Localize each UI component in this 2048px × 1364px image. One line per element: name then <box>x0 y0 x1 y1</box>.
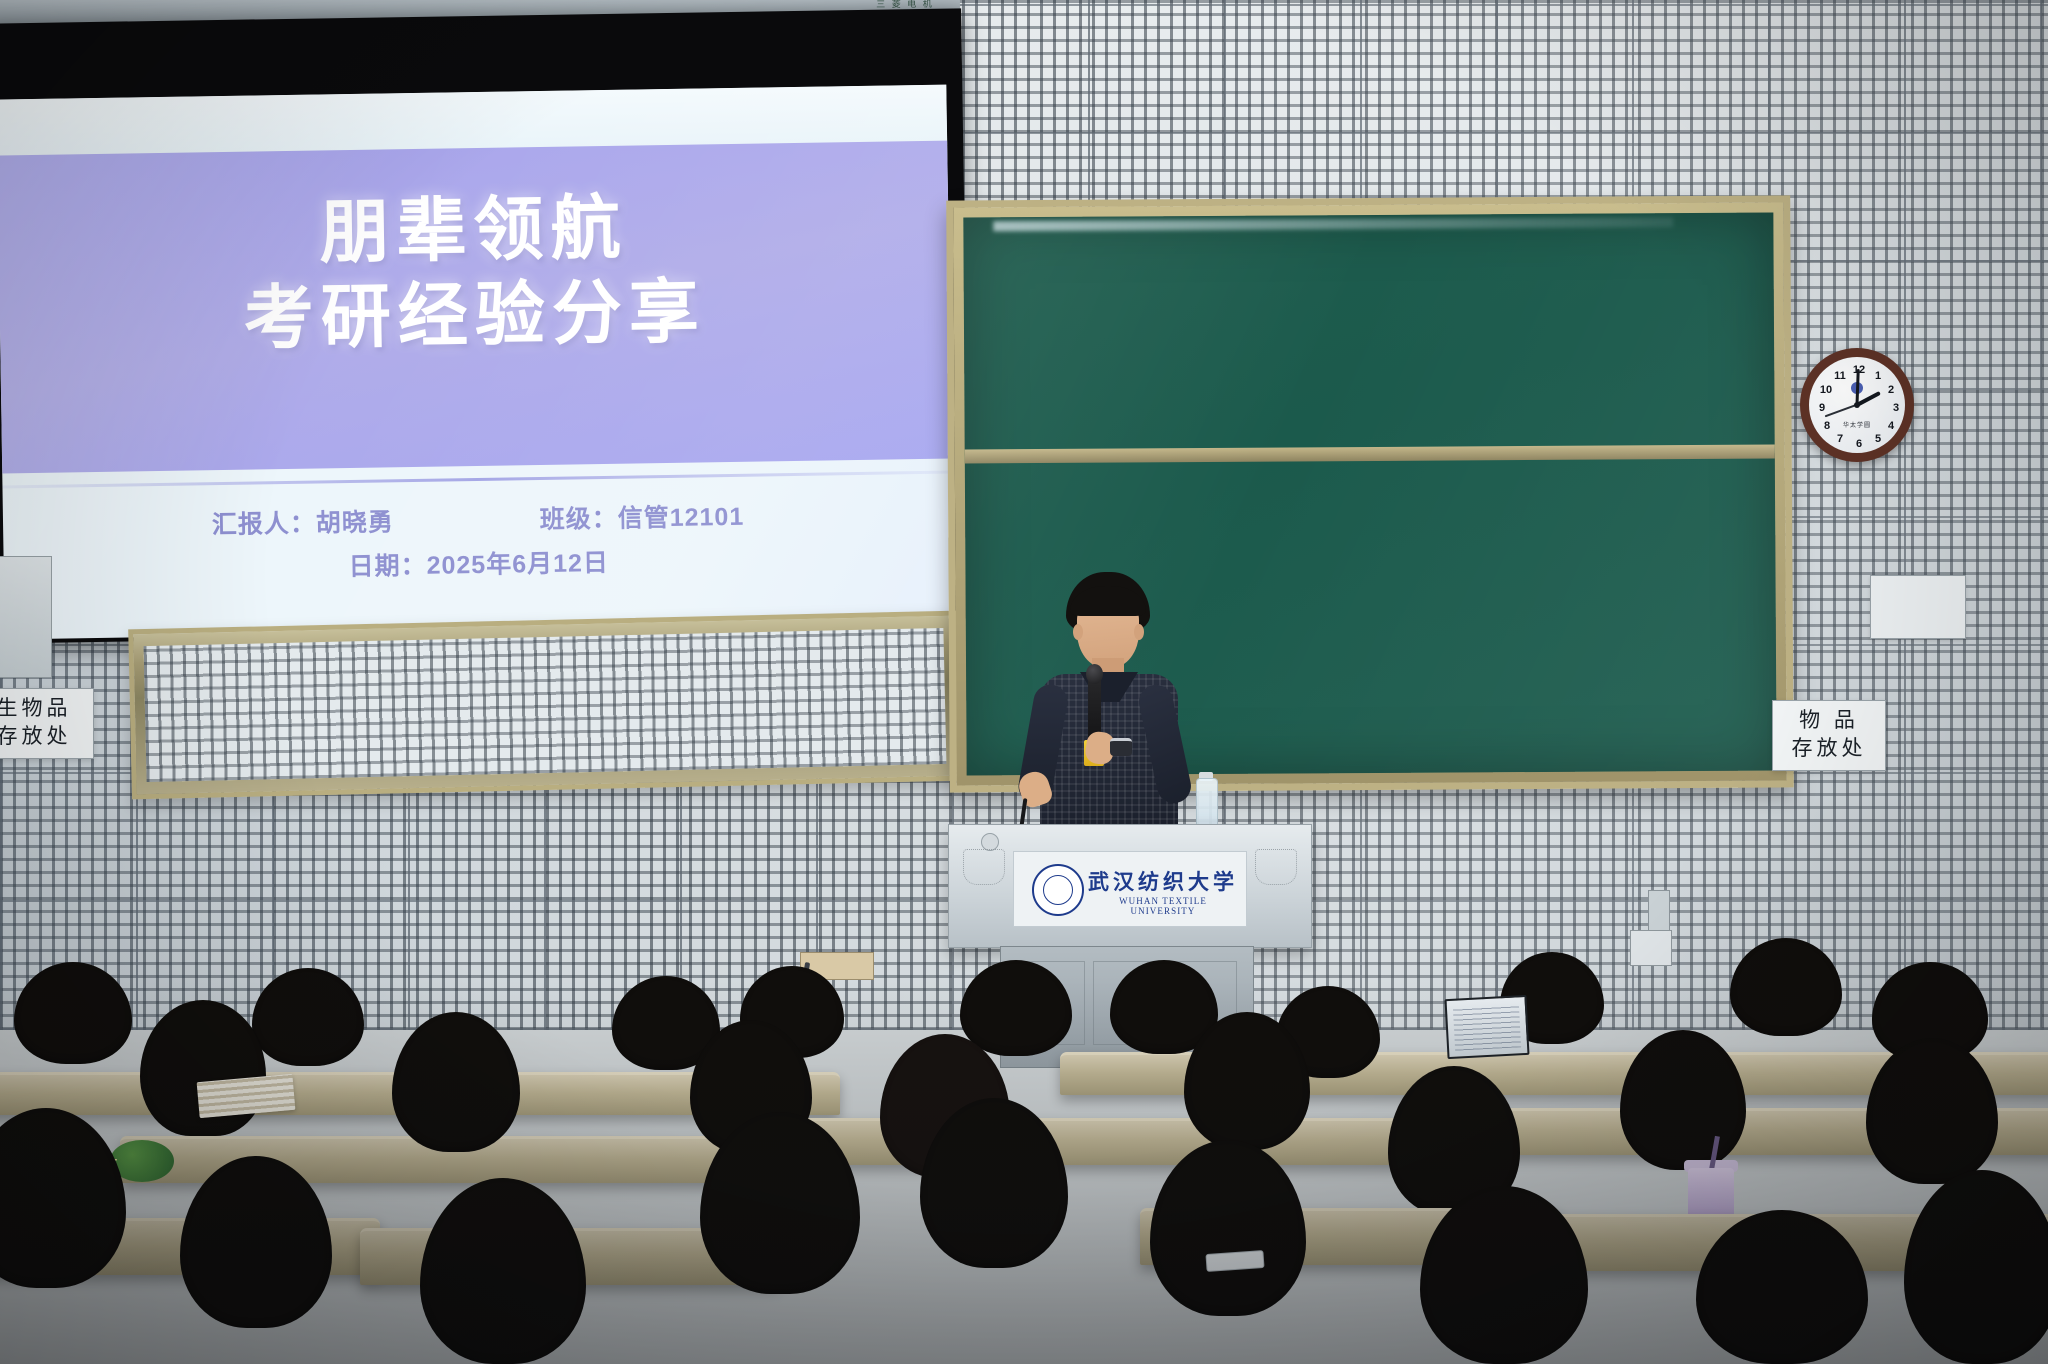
slide-meta: 汇报人：胡晓勇 班级：信管12101 日期：2025年6月12日 <box>3 493 954 595</box>
clock-numeral: 3 <box>1889 402 1903 414</box>
lectern-podium: 武汉纺织大学 WUHAN TEXTILE UNIVERSITY <box>948 824 1312 948</box>
clock-brand-text: 华太学圆 <box>1843 420 1871 429</box>
slide-presenter: 汇报人：胡晓勇 <box>212 508 394 539</box>
sign-left-line-2: 存放处 <box>0 723 89 751</box>
microphone-head-icon <box>1086 664 1103 684</box>
audience-head <box>0 1108 126 1288</box>
clock-numeral: 9 <box>1815 402 1829 414</box>
clock-numeral: 4 <box>1884 420 1898 432</box>
slide-divider <box>2 471 952 489</box>
university-name-en: WUHAN TEXTILE UNIVERSITY <box>1088 896 1238 916</box>
sign-right-line-2: 存放处 <box>1777 735 1881 763</box>
clock-numeral: 8 <box>1820 420 1834 432</box>
podium-emblem-left-icon <box>963 849 1005 885</box>
ledge-acoustic-panel <box>144 628 947 782</box>
wall-clock: 12 1 2 3 4 5 6 7 8 9 10 11 华太学圆 <box>1800 348 1914 462</box>
projection-screen-frame: 朋辈领航 考研经验分享 汇报人：胡晓勇 班级：信管12101 日期：2025年6… <box>0 8 971 643</box>
clock-numeral: 6 <box>1852 438 1866 450</box>
university-seal-icon <box>1032 864 1084 916</box>
speaker-ear-left <box>1073 624 1083 640</box>
podium-emblem-right-icon <box>1255 849 1297 885</box>
slide-title-line-1: 朋辈领航 <box>0 181 949 281</box>
audience-head <box>1620 1030 1746 1170</box>
wall-poster-left <box>0 556 52 678</box>
clock-numeral: 11 <box>1833 370 1847 382</box>
wall-blank-plate <box>1870 575 1966 639</box>
speaker-wristwatch <box>1110 738 1132 756</box>
speaker-ear-right <box>1134 624 1144 640</box>
clock-face: 12 1 2 3 4 5 6 7 8 9 10 11 华太学圆 <box>1809 357 1905 453</box>
slide-class: 班级：信管12101 <box>540 503 745 534</box>
clock-minute-hand <box>1856 369 1860 405</box>
sign-left-line-1: 生物品 <box>0 695 89 723</box>
projection-screen: 朋辈领航 考研经验分享 汇报人：胡晓勇 班级：信管12101 日期：2025年6… <box>0 85 955 640</box>
clock-center-pin <box>1854 402 1860 408</box>
podium-nameplate: 武汉纺织大学 WUHAN TEXTILE UNIVERSITY <box>1013 851 1247 927</box>
slide-title-line-2: 考研经验分享 <box>0 266 950 366</box>
slide-title: 朋辈领航 考研经验分享 <box>0 181 950 367</box>
lecture-hall-scene: 三 菱 电 机 朋辈领航 考研经验分享 汇报人：胡晓勇 班级：信管12101 日… <box>0 0 2048 1364</box>
wall-outlet-right <box>1630 930 1672 966</box>
speaker-presenter <box>1022 572 1192 832</box>
audience-head <box>1150 1140 1306 1316</box>
clock-second-hand <box>1825 404 1857 417</box>
clock-numeral: 10 <box>1819 384 1833 396</box>
wall-ledge-panel <box>128 611 962 800</box>
clock-numeral: 2 <box>1884 384 1898 396</box>
desk-row <box>760 1118 1480 1165</box>
audience-laptop[interactable] <box>1444 995 1529 1059</box>
university-name-cn: 武汉纺织大学 <box>1088 866 1238 896</box>
clock-numeral: 1 <box>1871 370 1885 382</box>
sign-storage-right: 物 品 存放处 <box>1772 700 1886 771</box>
clock-numeral: 5 <box>1871 433 1885 445</box>
audience-head <box>392 1012 520 1152</box>
clock-numeral: 7 <box>1833 433 1847 445</box>
laptop-screen-content <box>1453 1003 1521 1050</box>
audience-head <box>1904 1170 2048 1364</box>
audience-head <box>420 1178 586 1364</box>
sign-right-line-1: 物 品 <box>1777 707 1881 735</box>
sign-storage-left: 生物品 存放处 <box>0 688 94 759</box>
meta-spacer <box>402 528 532 530</box>
